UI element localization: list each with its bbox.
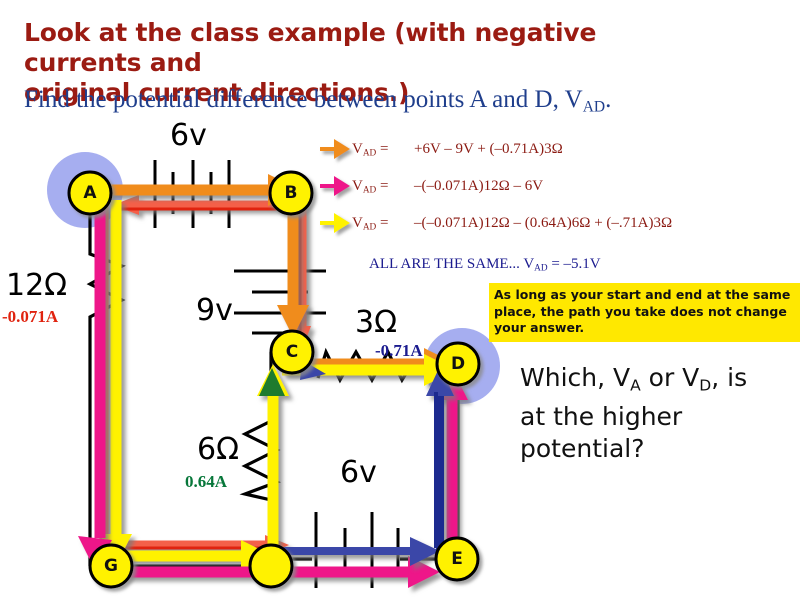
eq1-equals: = <box>380 141 388 157</box>
yellow-arrow-marker <box>320 213 350 233</box>
question-text: Which, VA or VD, is at the higher potent… <box>520 362 800 465</box>
eq2-sub: AD <box>363 186 376 196</box>
label-battery-6v-bottom: 6v <box>340 455 377 490</box>
page-subtitle-blue: Find the potential difference between po… <box>24 86 800 121</box>
subtitle-suffix: . <box>605 86 611 113</box>
current-12ohm: -0.071A <box>2 307 58 327</box>
node-label-c: C <box>286 342 298 362</box>
equation-row-1: VAD =+6V – 9V + (–0.71A)3Ω <box>352 141 563 159</box>
conclusion-sub: AD <box>534 264 547 274</box>
eq2-equals: = <box>380 178 388 194</box>
conclusion-prefix: ALL ARE THE SAME... V <box>369 256 534 272</box>
title-line-1: Look at the class example (with negative… <box>24 18 684 78</box>
equation-markers <box>318 134 362 242</box>
eq3-sub: AD <box>363 223 376 233</box>
node-label-b: B <box>285 183 298 203</box>
battery-9v-symbol <box>234 271 326 333</box>
question-part-a: Which, V <box>520 363 630 392</box>
orange-arrow-marker <box>320 139 350 159</box>
label-battery-6v-top: 6v <box>170 118 207 153</box>
eq3-equals: = <box>380 215 388 231</box>
eq1-sub: AD <box>363 149 376 159</box>
node-label-g: G <box>104 556 118 576</box>
question-sub-a: A <box>630 376 641 394</box>
question-line-3: potential? <box>520 434 644 463</box>
eq2-rhs: –(–0.071A)12Ω – 6V <box>414 178 543 194</box>
conclusion-suffix: = –5.1V <box>548 256 601 272</box>
node-label-d: D <box>451 354 465 374</box>
current-6ohm: 0.64A <box>185 472 227 492</box>
label-battery-9v: 9v <box>196 293 233 328</box>
node-label-e: E <box>451 549 463 569</box>
node-f <box>250 545 292 587</box>
slide-canvas: A B C D G E Look at the class example (w… <box>0 0 800 600</box>
question-part-c: , is <box>711 363 747 392</box>
question-part-b: or V <box>641 363 700 392</box>
eq3-rhs: –(–0.071A)12Ω – (0.64A)6Ω + (–.71A)3Ω <box>414 215 672 231</box>
node-label-a: A <box>83 183 96 203</box>
question-sub-d: D <box>699 376 711 394</box>
current-3ohm: -0.71A <box>375 341 423 361</box>
label-resistor-3ohm: 3Ω <box>355 305 397 340</box>
equation-row-2: VAD =–(–0.071A)12Ω – 6V <box>352 178 543 196</box>
magenta-arrow-marker <box>320 176 350 196</box>
note-box: As long as your start and end at the sam… <box>489 283 800 342</box>
label-resistor-6ohm: 6Ω <box>197 432 239 467</box>
subtitle-text: Find the potential difference between po… <box>24 86 583 113</box>
question-line-2: at the higher <box>520 402 682 431</box>
conclusion-text: ALL ARE THE SAME... VAD = –5.1V <box>369 256 601 274</box>
subtitle-subscript: AD <box>583 98 605 115</box>
eq1-rhs: +6V – 9V + (–0.71A)3Ω <box>414 141 563 157</box>
equation-row-3: VAD =–(–0.071A)12Ω – (0.64A)6Ω + (–.71A)… <box>352 215 672 233</box>
label-resistor-12ohm: 12Ω <box>6 268 67 303</box>
